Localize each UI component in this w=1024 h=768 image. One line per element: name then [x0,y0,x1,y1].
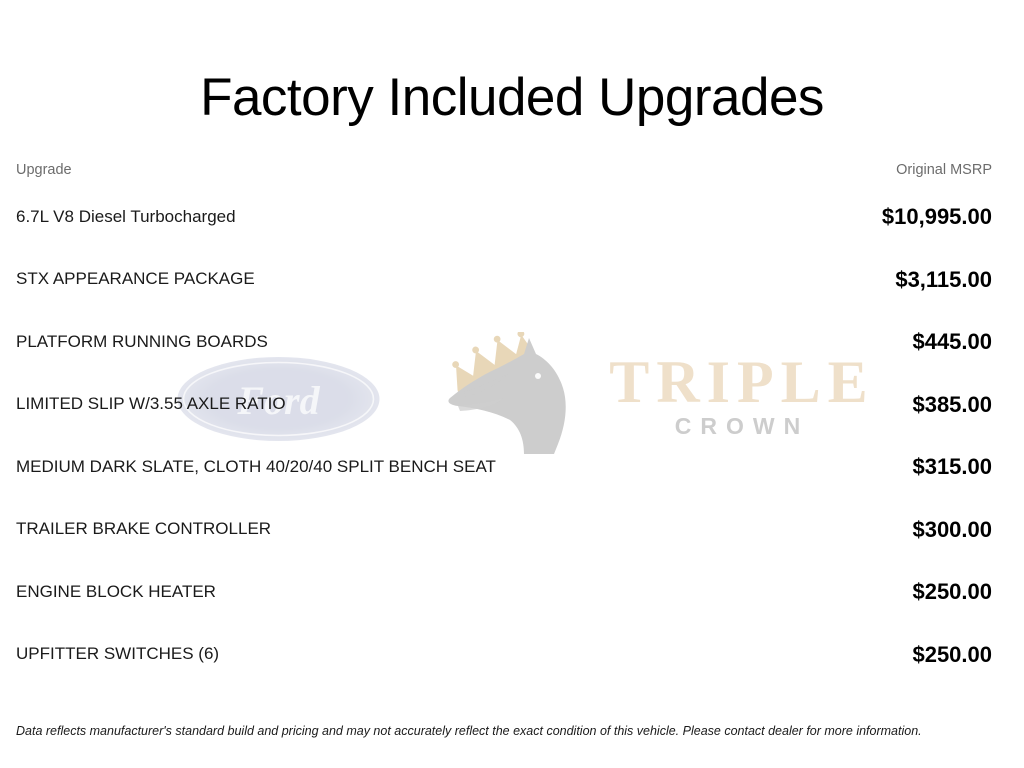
upgrade-name: STX APPEARANCE PACKAGE [16,249,696,312]
page-title: Factory Included Upgrades [0,70,1024,126]
disclaimer-footnote: Data reflects manufacturer's standard bu… [16,723,1008,739]
table-row: STX APPEARANCE PACKAGE $3,115.00 [16,249,992,312]
table-row: UPFITTER SWITCHES (6) $250.00 [16,624,992,687]
upgrade-price: $385.00 [696,374,992,437]
table-header: Upgrade Original MSRP [16,155,992,186]
upgrade-name: TRAILER BRAKE CONTROLLER [16,499,696,562]
table-row: LIMITED SLIP W/3.55 AXLE RATIO $385.00 [16,374,992,437]
upgrade-price: $250.00 [696,624,992,687]
page-content: Factory Included Upgrades Upgrade Origin… [0,0,1024,768]
column-header-msrp: Original MSRP [696,155,992,186]
upgrade-price: $250.00 [696,561,992,624]
table-row: PLATFORM RUNNING BOARDS $445.00 [16,311,992,374]
table-row: TRAILER BRAKE CONTROLLER $300.00 [16,499,992,562]
upgrade-name: PLATFORM RUNNING BOARDS [16,311,696,374]
upgrade-price: $315.00 [696,436,992,499]
upgrade-price: $445.00 [696,311,992,374]
column-header-upgrade: Upgrade [16,155,696,186]
table-body: 6.7L V8 Diesel Turbocharged $10,995.00 S… [16,186,992,686]
upgrade-price: $300.00 [696,499,992,562]
upgrade-name: MEDIUM DARK SLATE, CLOTH 40/20/40 SPLIT … [16,436,696,499]
upgrade-name: 6.7L V8 Diesel Turbocharged [16,186,696,249]
upgrade-price: $10,995.00 [696,186,992,249]
upgrade-name: LIMITED SLIP W/3.55 AXLE RATIO [16,374,696,437]
upgrade-name: UPFITTER SWITCHES (6) [16,624,696,687]
table-row: 6.7L V8 Diesel Turbocharged $10,995.00 [16,186,992,249]
table-header-row: Upgrade Original MSRP [16,155,992,186]
upgrade-name: ENGINE BLOCK HEATER [16,561,696,624]
upgrade-price: $3,115.00 [696,249,992,312]
table-row: ENGINE BLOCK HEATER $250.00 [16,561,992,624]
table-row: MEDIUM DARK SLATE, CLOTH 40/20/40 SPLIT … [16,436,992,499]
factory-upgrades-table: Upgrade Original MSRP 6.7L V8 Diesel Tur… [16,155,992,686]
